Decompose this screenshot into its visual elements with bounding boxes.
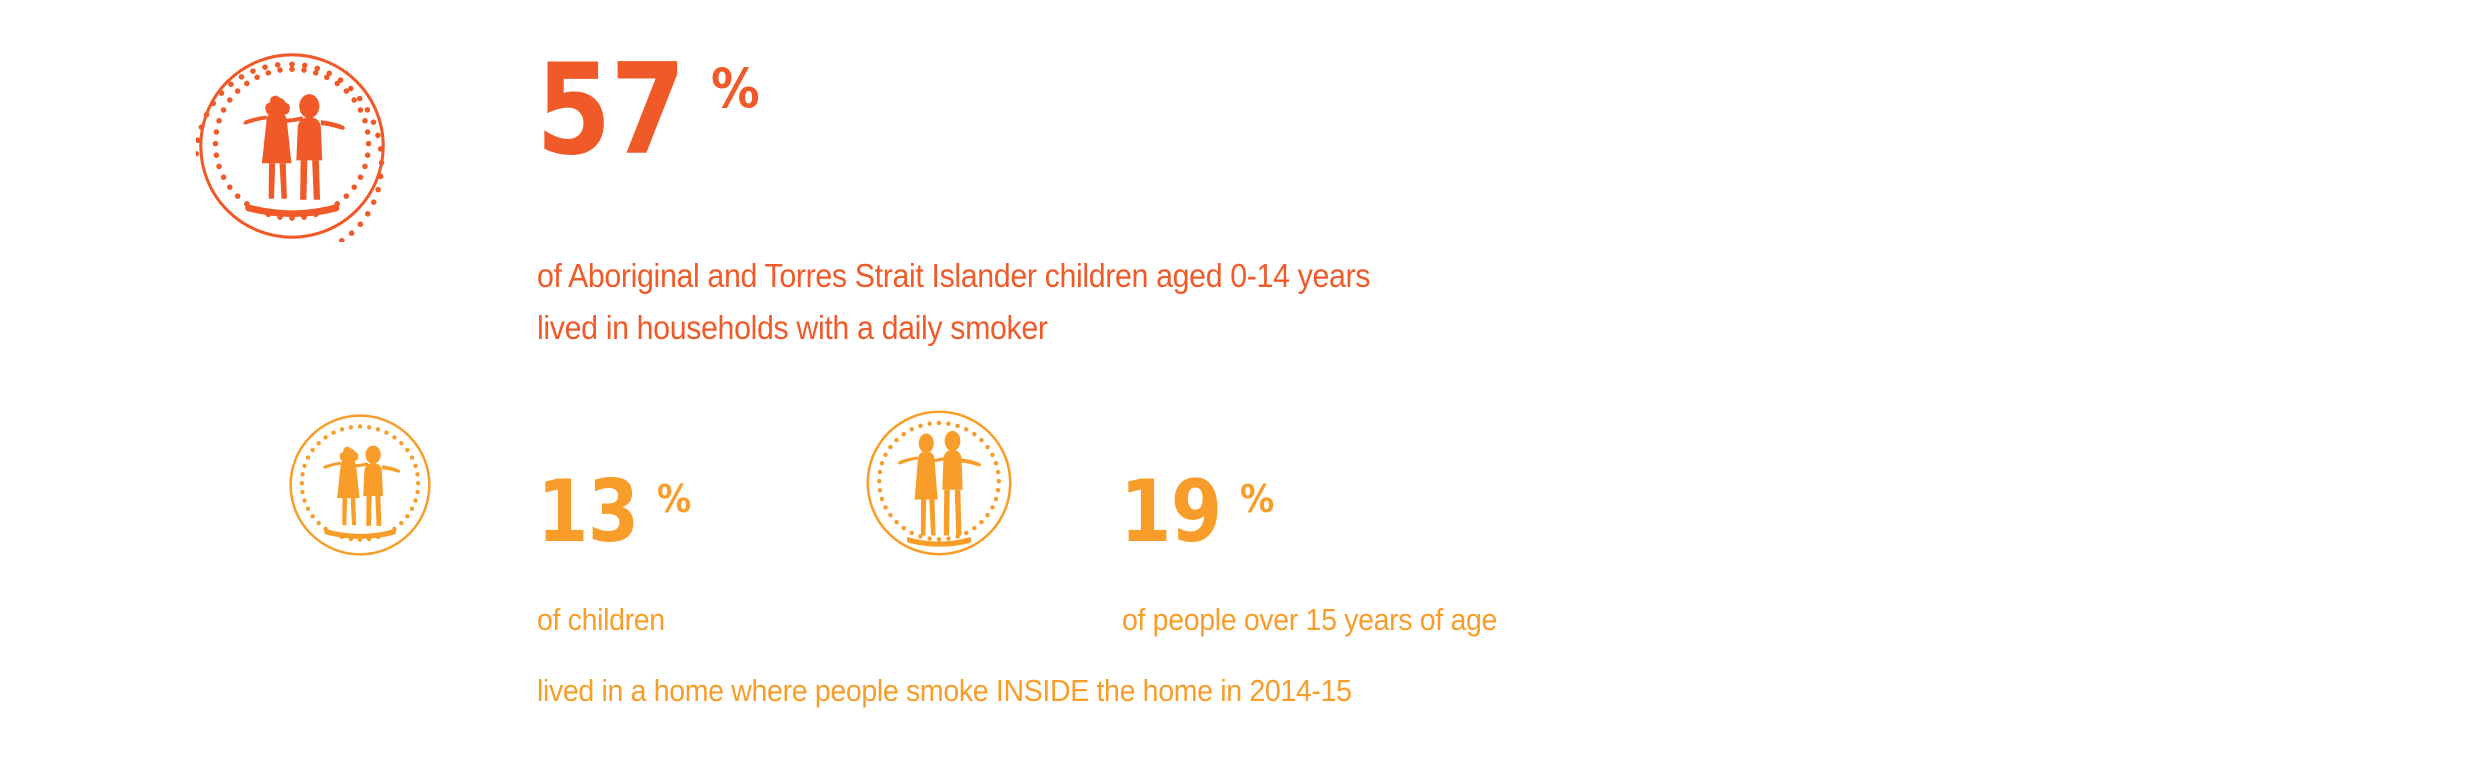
two-children-in-dotted-circle-icon — [287, 412, 433, 563]
percentage-19: 19 % — [1120, 477, 1278, 548]
percent-sign: % — [711, 62, 760, 116]
caption-line-2: lived in households with a daily smoker — [537, 307, 1048, 349]
two-adults-in-dotted-circle-icon — [864, 408, 1014, 563]
percentage-value: 19 — [1120, 477, 1221, 548]
percent-sign: % — [657, 480, 691, 518]
percentage-value: 13 — [537, 477, 638, 548]
caption-line-1: of children — [537, 600, 665, 640]
caption-line-1: of people over 15 years of age — [1122, 600, 1497, 640]
percent-sign: % — [1240, 480, 1274, 518]
two-children-in-dotted-circle-icon — [196, 50, 388, 247]
caption-line-1: of Aboriginal and Torres Strait Islander… — [537, 255, 1370, 297]
percentage-value: 57 — [536, 58, 685, 161]
percentage-13: 13 % — [537, 477, 695, 548]
percentage-57: 57 % — [536, 58, 765, 161]
shared-caption: lived in a home where people smoke INSID… — [537, 673, 1352, 709]
infographic-canvas: 57 % of Aboriginal and Torres Strait Isl… — [0, 0, 2480, 768]
